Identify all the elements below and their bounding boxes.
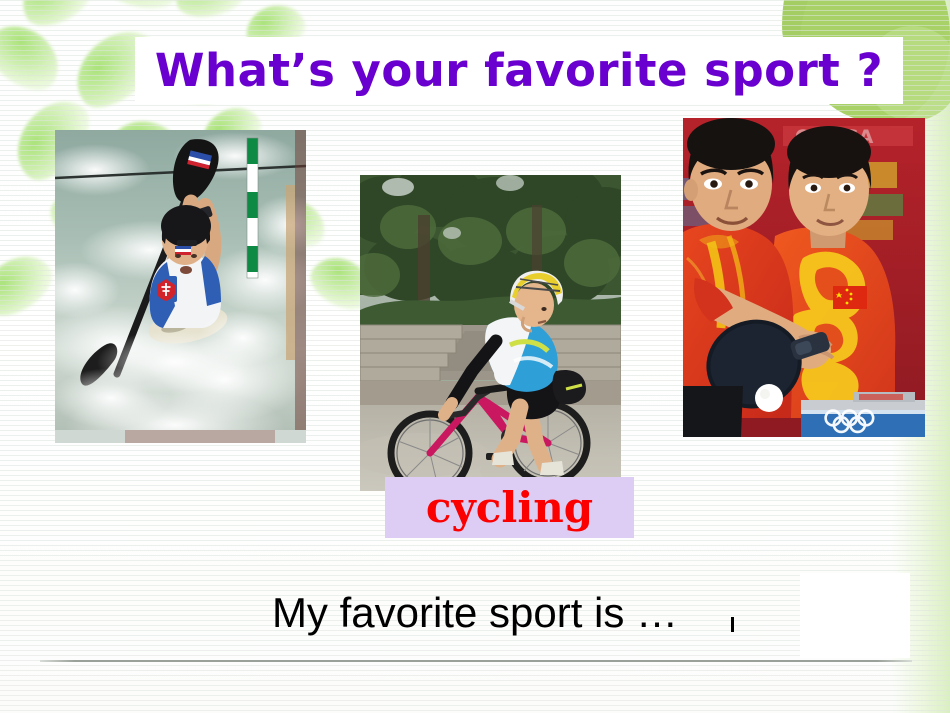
slide-canvas: What’s your favorite sport ? (0, 0, 950, 713)
cycling-photo (360, 175, 621, 491)
text-caret (731, 617, 734, 632)
title-band: What’s your favorite sport ? (135, 37, 903, 104)
table-tennis-photo: OMEGA (683, 118, 925, 437)
cycling-label-box: cycling (385, 477, 634, 538)
cycling-label-text: cycling (426, 487, 593, 529)
table-tennis-illustration: OMEGA (683, 118, 925, 437)
cycling-illustration (360, 175, 621, 491)
kayaking-photo (55, 130, 306, 443)
prompt-sentence: My favorite sport is … (0, 592, 950, 634)
bottom-divider (40, 660, 912, 662)
kayaking-illustration (55, 130, 306, 443)
page-title: What’s your favorite sport ? (155, 48, 883, 93)
